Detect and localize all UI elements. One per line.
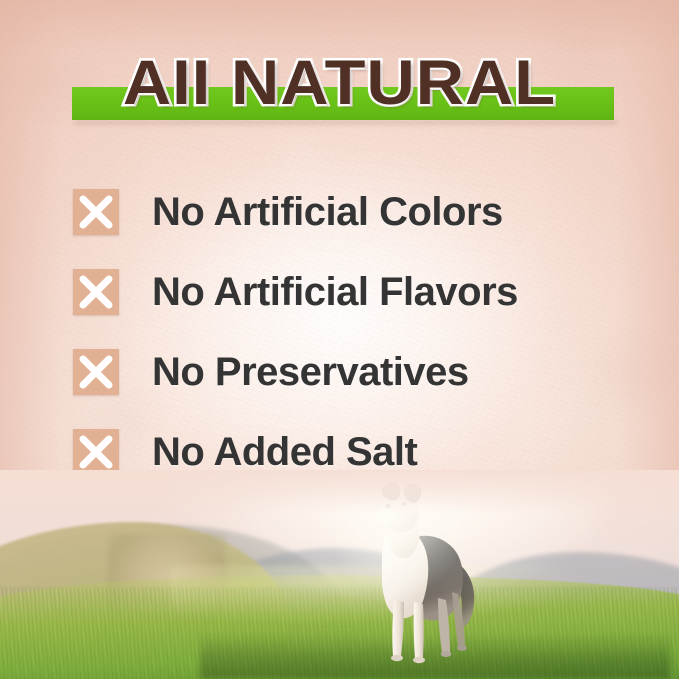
list-item: No Artificial Flavors (73, 252, 633, 332)
claim-label: No Preservatives (152, 350, 469, 394)
claim-label: No Added Salt (152, 430, 417, 474)
x-mark-icon (73, 269, 119, 315)
claims-list: No Artificial Colors No Artificial Flavo… (73, 172, 633, 492)
landscape-photo (0, 470, 679, 679)
x-mark-icon (73, 349, 119, 395)
page-title: AII NATURAL (0, 48, 679, 118)
product-feature-poster: AII NATURAL No Artificial Colors No Arti… (0, 0, 679, 679)
list-item: No Preservatives (73, 332, 633, 412)
dog-border-collie (352, 474, 492, 674)
list-item: No Artificial Colors (73, 172, 633, 252)
claim-label: No Artificial Colors (152, 190, 503, 234)
x-mark-icon (73, 429, 119, 475)
headline-banner: AII NATURAL (0, 48, 679, 134)
x-mark-icon (73, 189, 119, 235)
banner-shadow (75, 120, 617, 125)
claim-label: No Artificial Flavors (152, 270, 518, 314)
